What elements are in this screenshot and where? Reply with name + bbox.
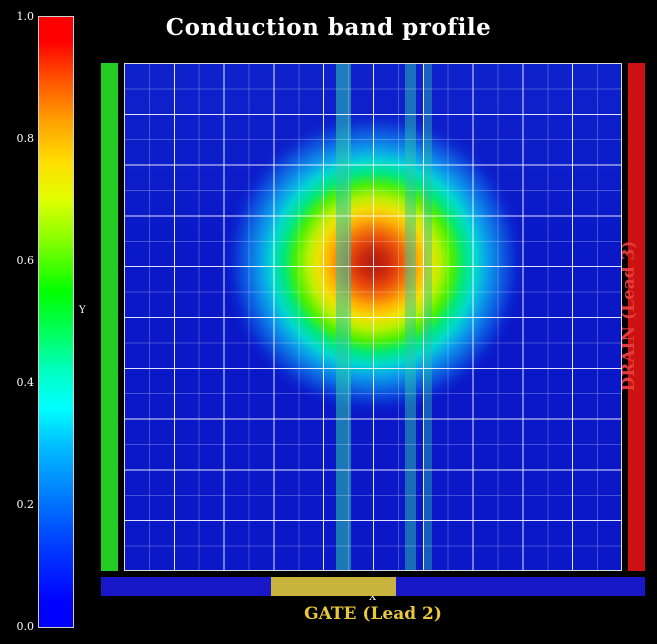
colorbar-tick-6: 0.0 — [2, 620, 34, 633]
colorbar-tick-1: 1.0 — [2, 10, 34, 23]
page-title: Conduction band profile — [0, 14, 657, 41]
y-axis-label: Y — [79, 305, 86, 316]
heatmap-plot: SOURCE (Lead 1) DRAIN (Lead 3) 0 2 4 6 8… — [101, 63, 645, 571]
colorbar-tick-2: 0.8 — [2, 132, 34, 145]
gate-lead-bar — [101, 577, 645, 596]
colorbar: 1.0 0.8 0.6 0.4 0.2 0.0 — [38, 16, 74, 628]
major-gridlines — [124, 63, 622, 571]
colorbar-gradient — [38, 16, 74, 628]
drain-lead-label: DRAIN (Lead 3) — [619, 216, 639, 416]
colorbar-tick-5: 0.2 — [2, 498, 34, 511]
colorbar-tick-4: 0.4 — [2, 376, 34, 389]
gate-bar-segment — [271, 577, 396, 596]
source-lead-bar — [101, 63, 118, 571]
gate-lead-label: GATE (Lead 2) — [101, 604, 645, 624]
colorbar-tick-3: 0.6 — [2, 254, 34, 267]
heatmap-field: 0 2 4 6 8 10 12 14 16 18 20 0 2 4 6 8 10… — [124, 63, 622, 571]
